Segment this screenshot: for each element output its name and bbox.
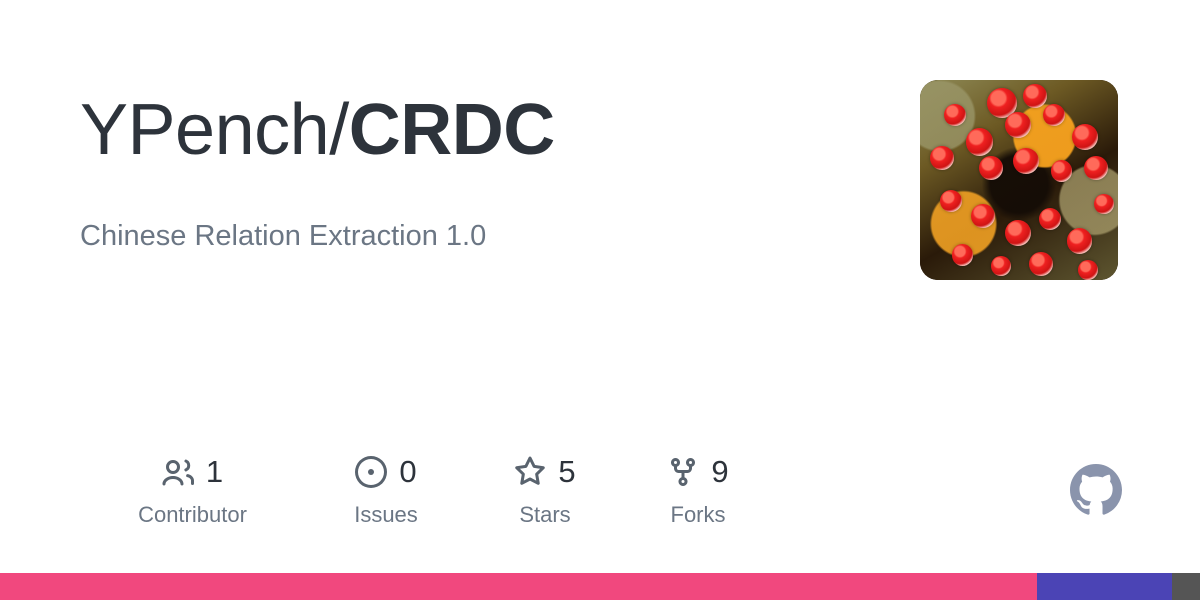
- stat-stars[interactable]: 5 Stars: [467, 452, 623, 528]
- stat-issues-top: 0: [355, 452, 416, 492]
- stat-forks-label: Forks: [671, 502, 726, 528]
- people-icon: [162, 456, 194, 488]
- stat-stars-label: Stars: [519, 502, 570, 528]
- stat-issues-label: Issues: [354, 502, 418, 528]
- language-segment-3: [1172, 573, 1200, 600]
- repository-avatar: [920, 80, 1118, 280]
- language-segment-1: [0, 573, 1037, 600]
- repo-forked-icon: [667, 456, 699, 488]
- stat-stars-value: 5: [558, 456, 575, 488]
- github-mark-icon: [1070, 464, 1122, 516]
- repo-owner: YPench: [80, 90, 329, 170]
- stat-issues[interactable]: 0 Issues: [305, 452, 467, 528]
- language-bar: [0, 573, 1200, 600]
- stat-contributors[interactable]: 1 Contributor: [80, 452, 305, 528]
- stat-contributors-top: 1: [162, 452, 223, 492]
- repo-description: Chinese Relation Extraction 1.0: [80, 216, 486, 256]
- repo-separator: /: [329, 90, 349, 170]
- stat-stars-top: 5: [514, 452, 575, 492]
- stat-forks-value: 9: [711, 456, 728, 488]
- stat-contributors-label: Contributor: [138, 502, 247, 528]
- stat-forks-top: 9: [667, 452, 728, 492]
- language-segment-2: [1037, 573, 1172, 600]
- page-title: YPench/CRDC: [80, 86, 555, 174]
- stat-contributors-value: 1: [206, 456, 223, 488]
- stat-issues-value: 0: [399, 456, 416, 488]
- repository-stats: 1 Contributor 0 Issues 5 Stars: [80, 452, 773, 528]
- repo-name: CRDC: [349, 90, 555, 170]
- star-icon: [514, 456, 546, 488]
- repository-avatar-image: [920, 80, 1118, 280]
- issue-opened-icon: [355, 456, 387, 488]
- stat-forks[interactable]: 9 Forks: [623, 452, 773, 528]
